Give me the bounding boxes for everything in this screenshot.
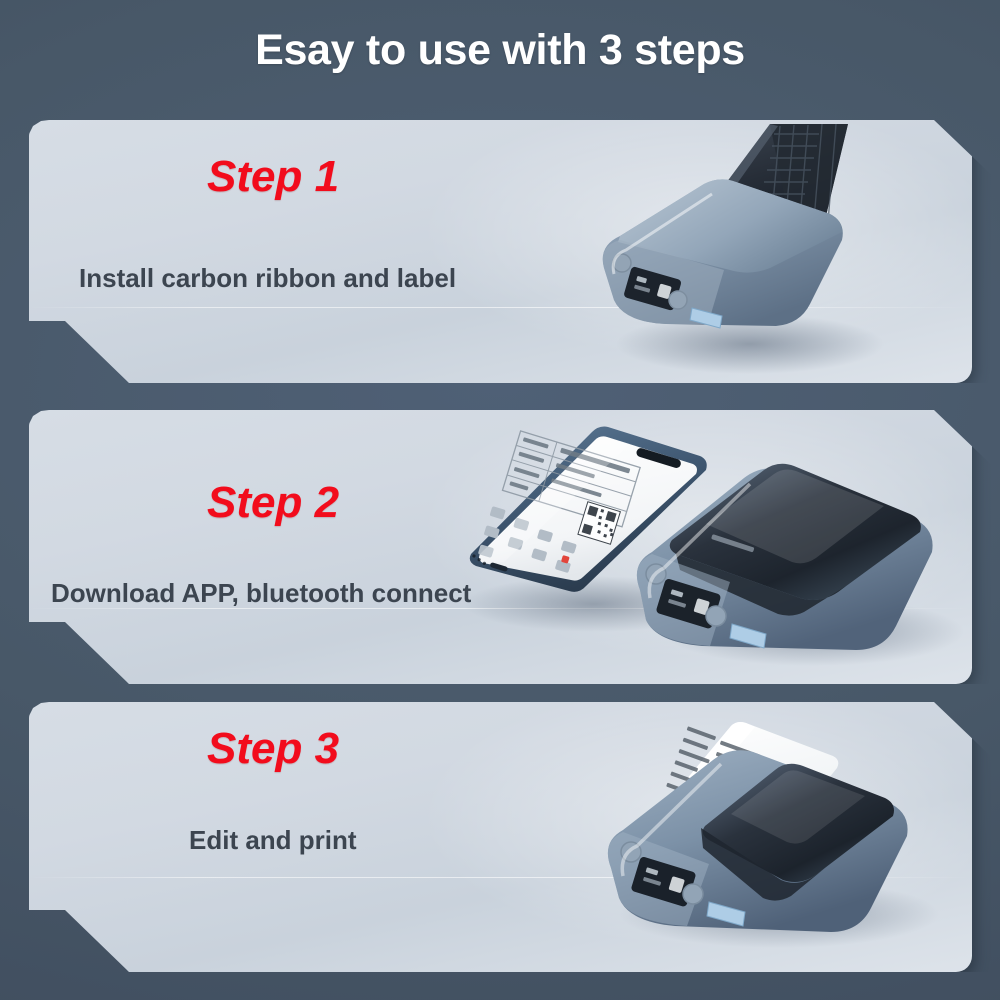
step-2-description: Download APP, bluetooth connect — [51, 578, 471, 609]
step-1-label: Step 1 — [207, 152, 339, 202]
step-3-description: Edit and print — [189, 825, 357, 856]
feed-button — [669, 291, 687, 309]
step-2-label: Step 2 — [207, 478, 339, 528]
step-1-description: Install carbon ribbon and label — [79, 263, 456, 294]
step-card-3: Step 3 Edit and print — [29, 702, 972, 972]
phone-and-printer-illustration — [444, 414, 972, 682]
printer-open-lid-illustration — [574, 120, 972, 383]
step-3-label: Step 3 — [207, 724, 339, 774]
feed-button — [683, 884, 703, 904]
feed-button — [706, 606, 726, 626]
page-title: Esay to use with 3 steps — [0, 26, 1000, 75]
printer-body — [608, 750, 908, 932]
printer-printing-illustration — [579, 702, 972, 968]
step-card-1: Step 1 Install carbon ribbon and label — [29, 120, 972, 383]
step-card-2: Step 2 Download APP, bluetooth connect — [29, 410, 972, 684]
page-root: Esay to use with 3 steps — [0, 0, 1000, 1000]
